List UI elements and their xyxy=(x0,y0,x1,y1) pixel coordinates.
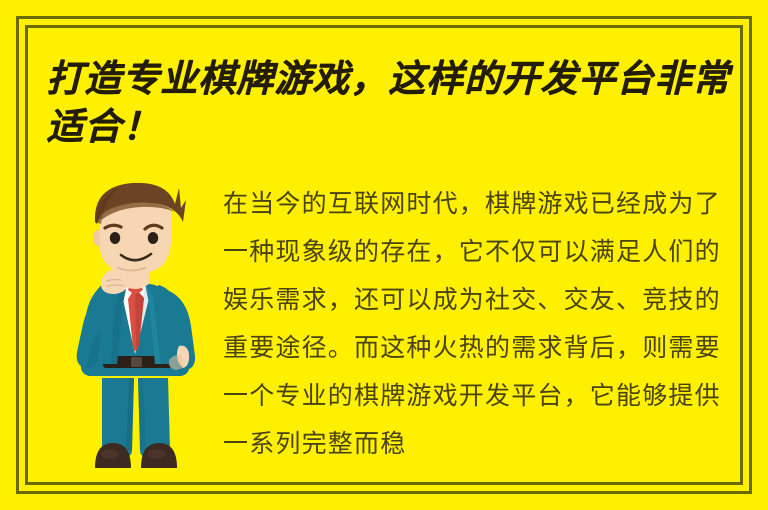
article-card: 打造专业棋牌游戏，这样的开发平台非常适合！ xyxy=(0,0,768,510)
businessman-thinking-illustration xyxy=(55,178,215,478)
page-title: 打造专业棋牌游戏，这样的开发平台非常适合！ xyxy=(46,56,736,152)
article-body-text: 在当今的互联网时代，棋牌游戏已经成为了一种现象级的存在，它不仅可以满足人们的娱乐… xyxy=(223,180,739,468)
